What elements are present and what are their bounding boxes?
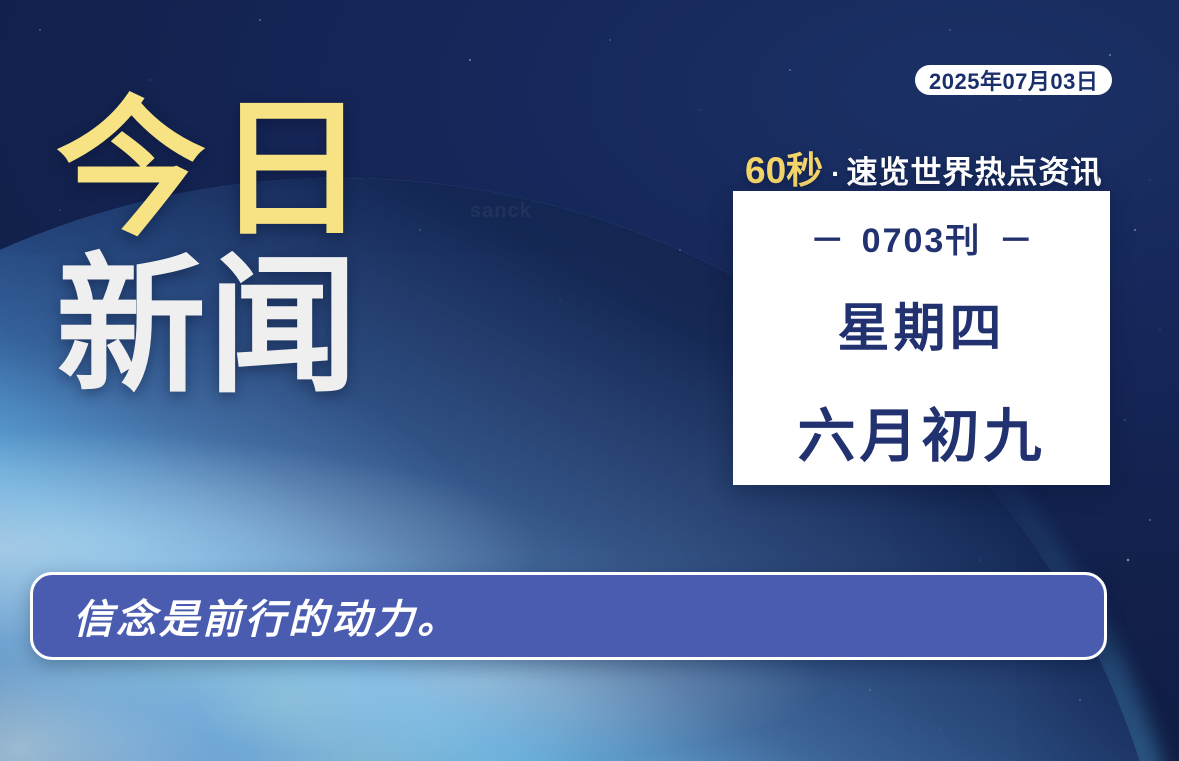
watermark-text: sanck xyxy=(470,200,532,223)
date-info-card: － 0703刊 － 星期四 六月初九 xyxy=(733,191,1110,485)
date-badge: 2025年07月03日 xyxy=(915,65,1112,95)
poster-title: 今日 新闻 xyxy=(56,96,376,400)
page-title-line-1: 今日 xyxy=(56,96,376,243)
issue-row: － 0703刊 － xyxy=(804,213,1039,262)
slogan-separator-dot: · xyxy=(831,158,840,190)
quote-text: 信念是前行的动力。 xyxy=(73,587,460,645)
issue-dash-right: － xyxy=(993,222,1039,260)
quote-bar: 信念是前行的动力。 xyxy=(30,572,1107,660)
page-title-line-2: 新闻 xyxy=(56,253,376,400)
weekday-label: 星期四 xyxy=(837,286,1005,361)
slogan-label: 速览世界热点资讯 xyxy=(846,147,1102,192)
slogan-seconds: 60秒 xyxy=(745,140,823,194)
slogan: 60秒 · 速览世界热点资讯 xyxy=(745,140,1102,194)
issue-number: 0703刊 xyxy=(862,222,982,260)
date-badge-label: 2025年07月03日 xyxy=(929,64,1098,96)
issue-dash-left: － xyxy=(804,222,850,260)
news-poster: sanck 2025年07月03日 今日 新闻 60秒 · 速览世界热点资讯 －… xyxy=(0,0,1179,761)
lunar-date-label: 六月初九 xyxy=(797,389,1045,473)
